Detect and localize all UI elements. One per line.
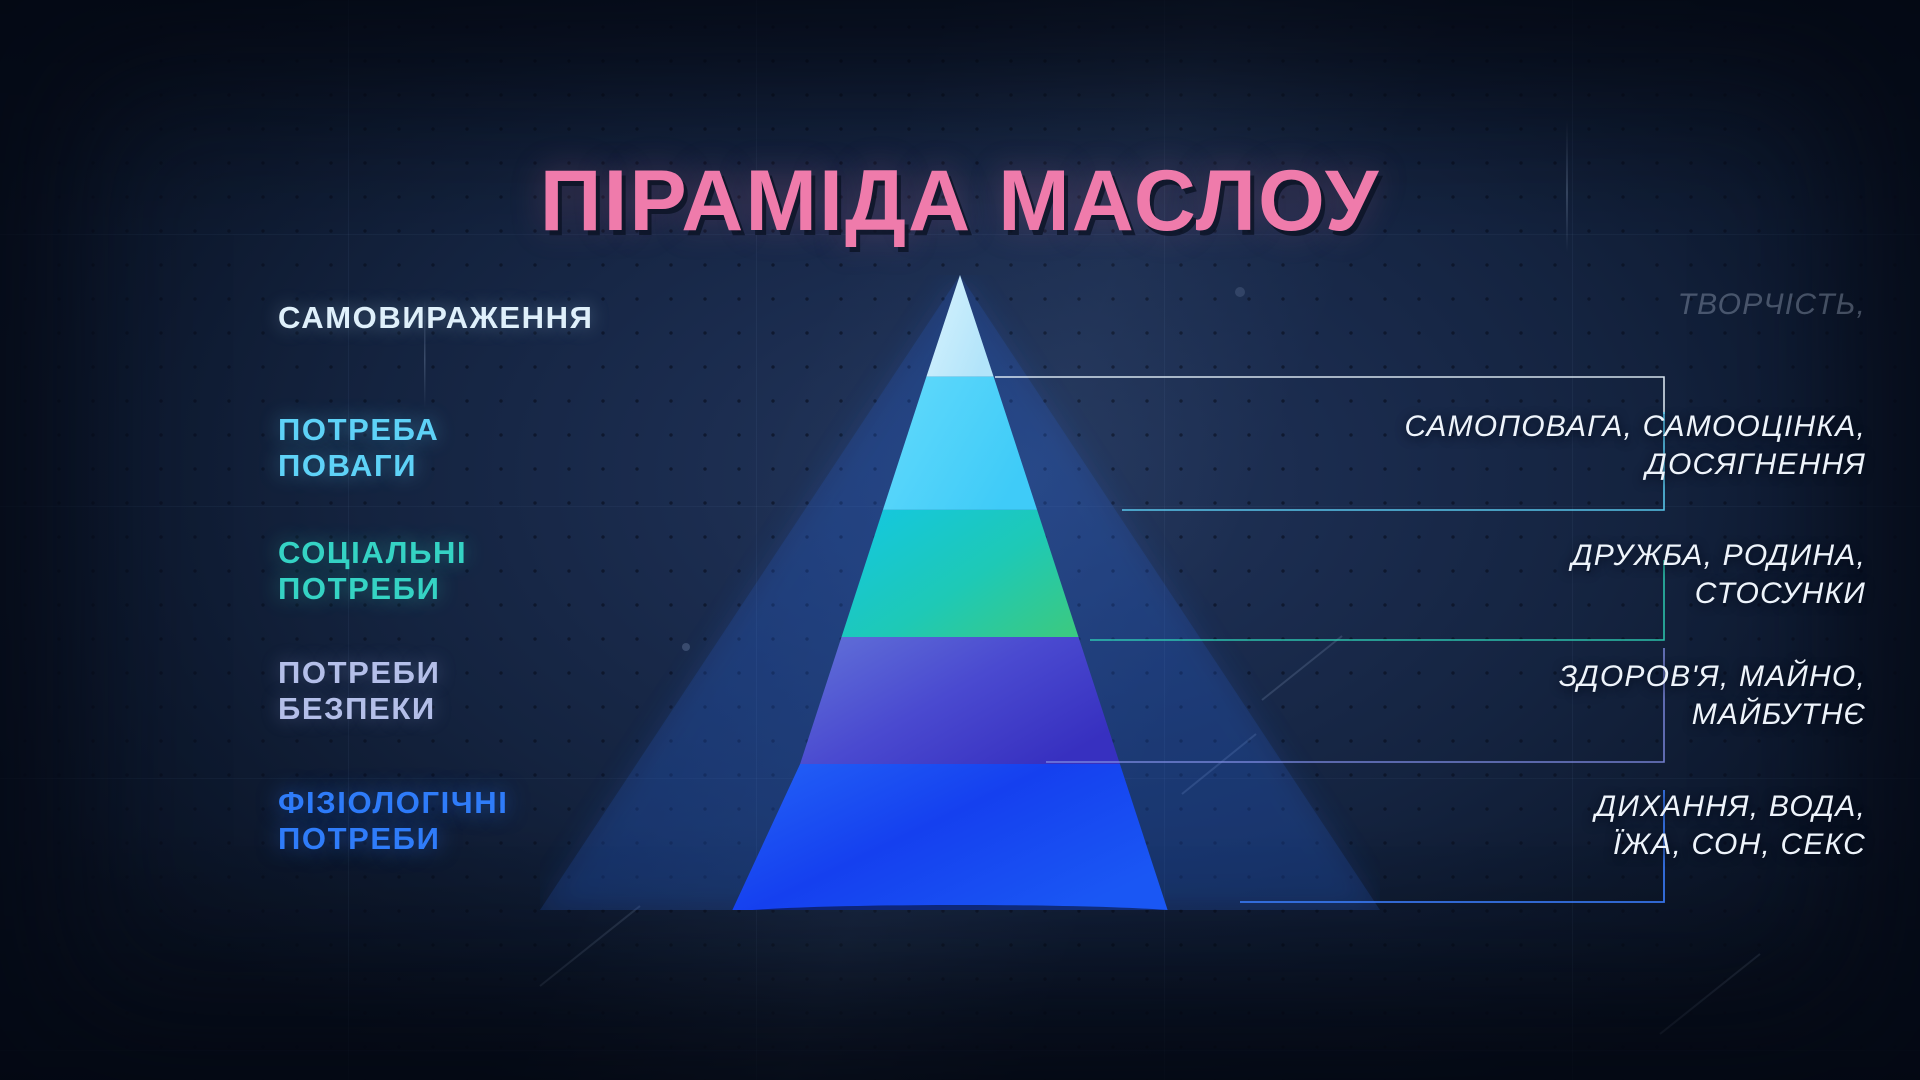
description-esteem: САМОПОВАГА, САМООЦІНКА, ДОСЯГНЕННЯ [1186,408,1866,484]
description-physiological: ДИХАННЯ, ВОДА, ЇЖА, СОН, СЕКС [1186,788,1866,864]
tier-label-self-actualization: САМОВИРАЖЕННЯ [278,300,594,336]
pyramid-band-physiological [732,764,1167,910]
tier-label-safety: ПОТРЕБИ БЕЗПЕКИ [278,655,440,728]
page-title: ПІРАМІДА МАСЛОУ [0,152,1920,251]
tier-label-social: СОЦІАЛЬНІ ПОТРЕБИ [278,535,467,608]
pyramid-band-social [842,510,1079,637]
tier-label-physiological: ФІЗІОЛОГІЧНІ ПОТРЕБИ [278,785,508,858]
infographic-slide: ПІРАМІДА МАСЛОУ ТВОРЧІСТЬ, [0,0,1920,1080]
self-actualization-description: ТВОРЧІСТЬ, [1678,288,1866,322]
description-safety: ЗДОРОВ'Я, МАЙНО, МАЙБУТНЄ [1186,658,1866,734]
pyramid-band-safety [800,637,1120,764]
description-social: ДРУЖБА, РОДИНА, СТОСУНКИ [1186,537,1866,613]
tier-label-esteem: ПОТРЕБА ПОВАГИ [278,412,439,485]
